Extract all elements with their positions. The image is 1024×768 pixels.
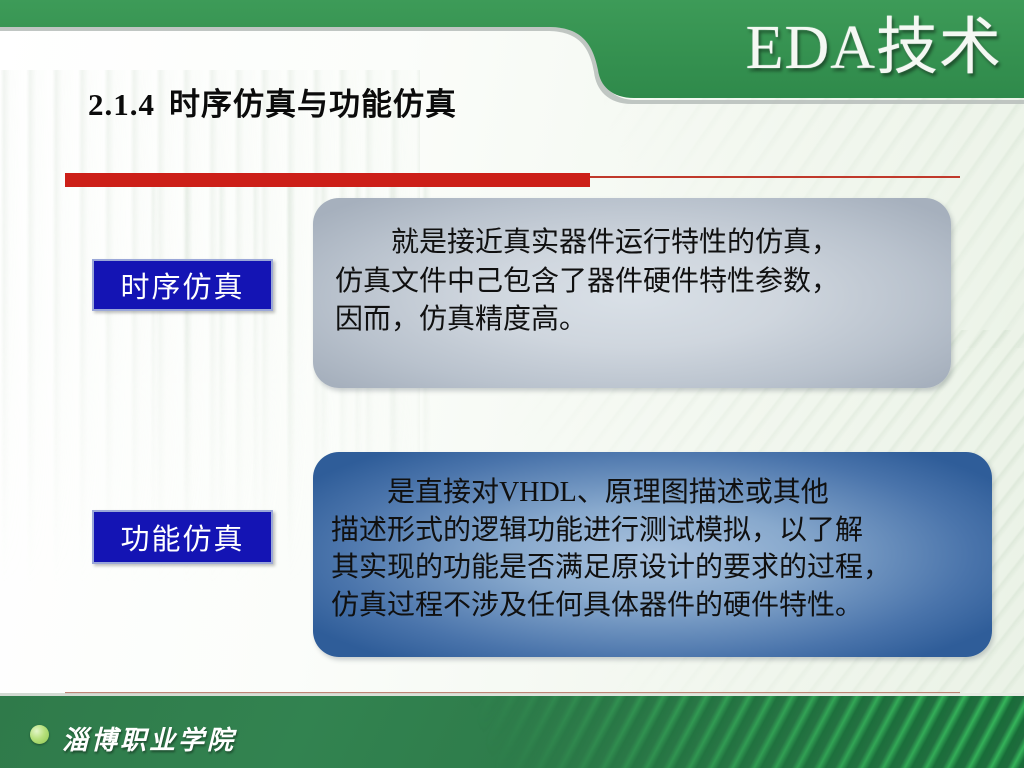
footer-institution-name: 淄博职业学院	[62, 720, 236, 757]
accent-bar-red	[65, 173, 590, 187]
page-title: 2.1.4时序仿真与功能仿真	[88, 79, 457, 124]
panel-function-line-2: 描述形式的逻辑功能进行测试模拟，以了解	[331, 512, 974, 550]
label-timing-simulation: 时序仿真	[92, 259, 273, 311]
footer-stripe-pattern	[464, 696, 1024, 768]
page-title-number: 2.1.4	[88, 87, 155, 122]
panel-function-line-4: 仿真过程不涉及任何具体器件的硬件特性。	[331, 587, 974, 625]
label-function-simulation: 功能仿真	[92, 510, 273, 564]
bullet-dot-icon	[30, 725, 49, 744]
panel-function-simulation: 是直接对VHDL、原理图描述或其他 描述形式的逻辑功能进行测试模拟，以了解 其实…	[313, 452, 992, 657]
panel-function-line-1: 是直接对VHDL、原理图描述或其他	[331, 474, 974, 512]
panel-timing-line-3: 因而，仿真精度高。	[335, 301, 927, 340]
page-title-text: 时序仿真与功能仿真	[169, 87, 457, 122]
brand-logo: EDA技术	[746, 0, 1002, 86]
panel-function-line-3: 其实现的功能是否满足原设计的要求的过程，	[331, 549, 974, 587]
panel-timing-simulation: 就是接近真实器件运行特性的仿真， 仿真文件中己包含了器件硬件特性参数， 因而，仿…	[313, 198, 951, 388]
footer-bar: 淄博职业学院	[0, 696, 1024, 768]
panel-timing-line-1: 就是接近真实器件运行特性的仿真，	[335, 224, 927, 263]
slide-canvas: EDA技术 2.1.4时序仿真与功能仿真 时序仿真 就是接近真实器件运行特性的仿…	[0, 0, 1024, 768]
panel-timing-line-2: 仿真文件中己包含了器件硬件特性参数，	[335, 263, 927, 302]
